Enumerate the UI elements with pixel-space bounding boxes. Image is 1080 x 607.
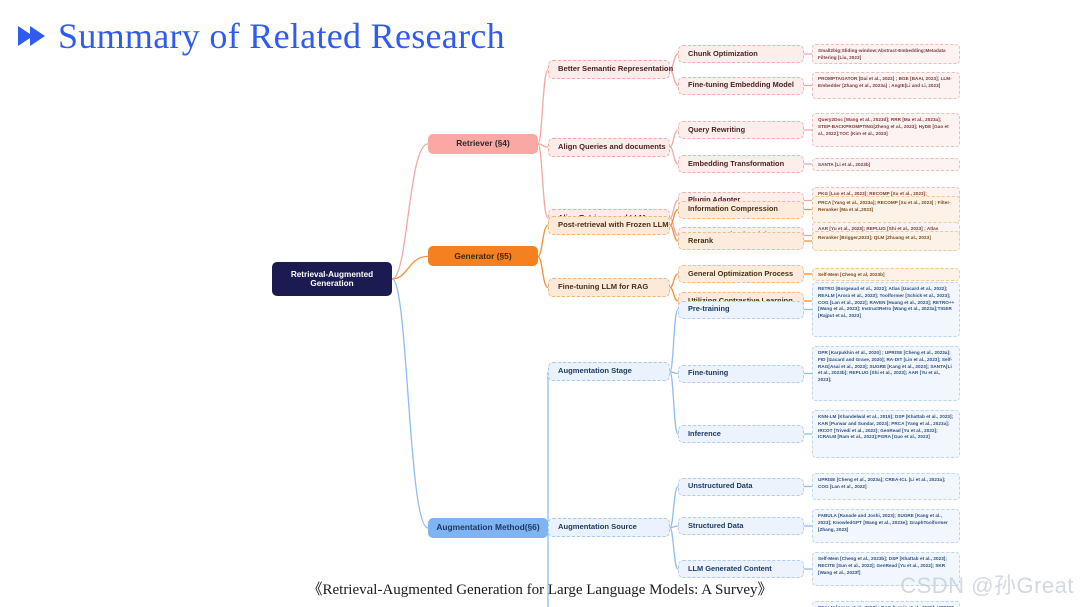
mindmap-leaf-citation: REALM [Arora et al., 2023] ; RAG [Lewis …	[812, 601, 960, 607]
mindmap-leaf-citation: Small2big;Sliding-window;Abstract-Embedd…	[812, 44, 960, 64]
mindmap-node-l3[interactable]: General Optimization Process	[678, 265, 804, 283]
mindmap-node-l2[interactable]: Augmentation Stage	[548, 362, 670, 381]
mindmap-leaf-citation: FABULA [Ranade and Joshi, 2023]; SUGRE […	[812, 509, 960, 543]
mindmap-leaf-citation: UPRISE [Cheng et al., 2023a]; CREA-ICL […	[812, 473, 960, 500]
mindmap-branch-retriever[interactable]: Retriever (§4)	[428, 134, 538, 154]
mindmap-leaf-citation: SANTA [Li et al., 2023b]	[812, 158, 960, 171]
mindmap-node-l3[interactable]: Fine-tuning Embedding Model	[678, 77, 804, 95]
mindmap-node-l3[interactable]: Embedding Transformation	[678, 155, 804, 173]
mindmap-leaf-citation: DPR [Karpukhin et al., 2020] ; UPRISE [C…	[812, 346, 960, 401]
mindmap-node-l3[interactable]: Query Rewriting	[678, 121, 804, 139]
mindmap-node-l2[interactable]: Better Semantic Representation	[548, 60, 670, 79]
mindmap-leaf-citation: PROMPTAGATOR [Dai et al., 2022] ; BGE [B…	[812, 72, 960, 99]
mindmap-node-l2[interactable]: Fine-tuning LLM for RAG	[548, 278, 670, 297]
mindmap-node-l3[interactable]: Chunk Optimization	[678, 45, 804, 63]
mindmap-node-l2[interactable]: Augmentation Source	[548, 518, 670, 537]
mindmap-node-l3[interactable]: Rerank	[678, 232, 804, 250]
mindmap-leaf-citation: Reranker [Brigger,2023]; QLM [Zhuang et …	[812, 231, 960, 251]
mindmap-node-l3[interactable]: Inference	[678, 425, 804, 443]
source-caption: 《Retrieval-Augmented Generation for Larg…	[0, 578, 1080, 599]
slide-canvas: Summary of Related Research Retrieval-Au…	[0, 0, 1080, 607]
mindmap-leaf-citation: KNN-LM [Khandelwal et al., 2019]; DSP [K…	[812, 410, 960, 458]
mindmap-branch-augmethod[interactable]: Augmentation Method(§6)	[428, 518, 548, 538]
mindmap-node-l3[interactable]: Unstructured Data	[678, 478, 804, 496]
mindmap-node-l3[interactable]: Information Compression	[678, 201, 804, 219]
mindmap-node-l3[interactable]: Pre-training	[678, 301, 804, 319]
mindmap-node-l3[interactable]: Structured Data	[678, 517, 804, 535]
mindmap-leaf-citation: Self-Mem [Cheng et al, 2023b]	[812, 268, 960, 281]
mindmap-node-l3[interactable]: LLM Generated Content	[678, 560, 804, 578]
mindmap-node-l2[interactable]: Post-retrieval with Frozen LLM	[548, 216, 670, 235]
mindmap-leaf-citation: PRCA [Yang et al., 2023a]; RECOMP [Xu et…	[812, 196, 960, 223]
mindmap: Retrieval-Augmented GenerationChunk Opti…	[0, 0, 1080, 607]
mindmap-branch-generator[interactable]: Generator (§5)	[428, 246, 538, 266]
mindmap-node-l2[interactable]: Align Queries and documents	[548, 138, 670, 157]
mindmap-root-node[interactable]: Retrieval-Augmented Generation	[272, 262, 392, 296]
mindmap-leaf-citation: RETRO [Borgeaud et al., 2022]; Atlas [Iz…	[812, 282, 960, 337]
mindmap-node-l3[interactable]: Fine-tuning	[678, 365, 804, 383]
mindmap-leaf-citation: Query2Doc [Wang et al., 2023d]; RRR [Ma …	[812, 113, 960, 147]
